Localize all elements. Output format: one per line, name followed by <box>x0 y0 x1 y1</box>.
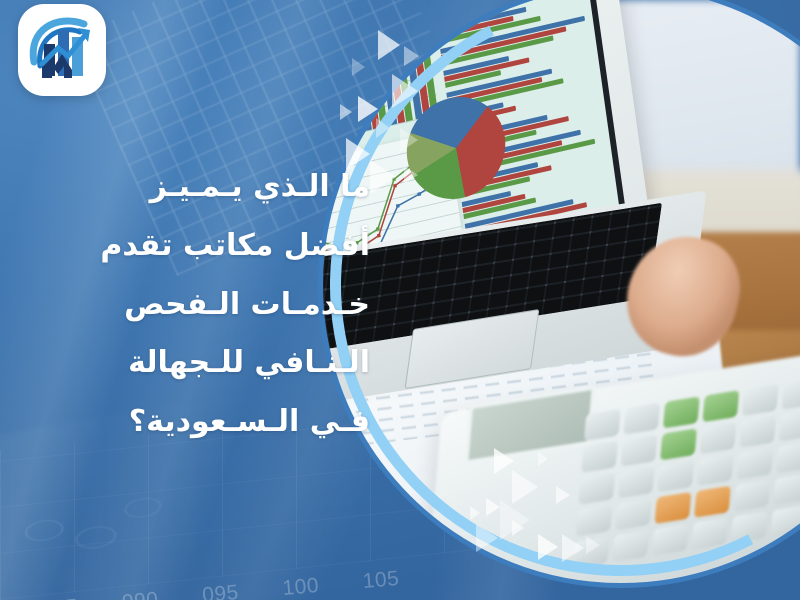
logo-graphic <box>18 4 106 96</box>
arrow-triangle-icon <box>352 58 365 76</box>
headline-line-1: ما الـذي يـمـيـز <box>20 158 370 217</box>
arrow-triangle-icon <box>476 524 498 552</box>
ghost-axis-tick: 095 <box>201 581 239 600</box>
arrow-triangle-icon <box>358 96 378 122</box>
arrow-triangle-icon <box>392 74 418 108</box>
ghost-axis-tick: 090 <box>121 588 159 600</box>
headline-line-3: خـدمـات الـفحص <box>20 276 370 335</box>
arrow-triangle-icon <box>538 452 548 466</box>
arrow-triangle-icon <box>486 498 500 516</box>
arrow-triangle-icon <box>556 486 570 504</box>
arrow-triangle-icon <box>340 104 352 120</box>
arrow-triangle-icon <box>562 534 584 562</box>
company-logo[interactable] <box>18 4 106 96</box>
headline-line-2: أفضل مكاتب تقدم <box>20 217 370 276</box>
arrow-triangle-icon <box>400 128 418 152</box>
headline-line-5: فـي الـسـعودية؟ <box>20 393 370 452</box>
arrow-triangle-icon <box>538 534 558 560</box>
ghost-axis-tick: 100 <box>282 574 320 600</box>
arrow-triangle-icon <box>512 470 538 504</box>
arrow-triangle-icon <box>376 118 390 138</box>
ghost-axis-tick: 085 <box>41 595 79 600</box>
arrow-triangle-icon <box>404 46 419 66</box>
headline-lines: ما الـذي يـمـيـز أفضل مكاتب تقدم خـدمـات… <box>20 158 380 452</box>
arrow-triangle-icon <box>470 506 480 520</box>
arrow-triangle-icon <box>586 536 600 554</box>
arrow-triangle-icon <box>512 520 524 536</box>
headline-line-4: الـنـافي للـجهالة <box>20 334 370 393</box>
arrow-triangle-icon <box>494 448 514 474</box>
banner-canvas: 085 090 095 100 105 <box>0 0 800 600</box>
arrow-triangle-icon <box>404 166 418 184</box>
arrow-triangle-icon <box>378 30 400 60</box>
